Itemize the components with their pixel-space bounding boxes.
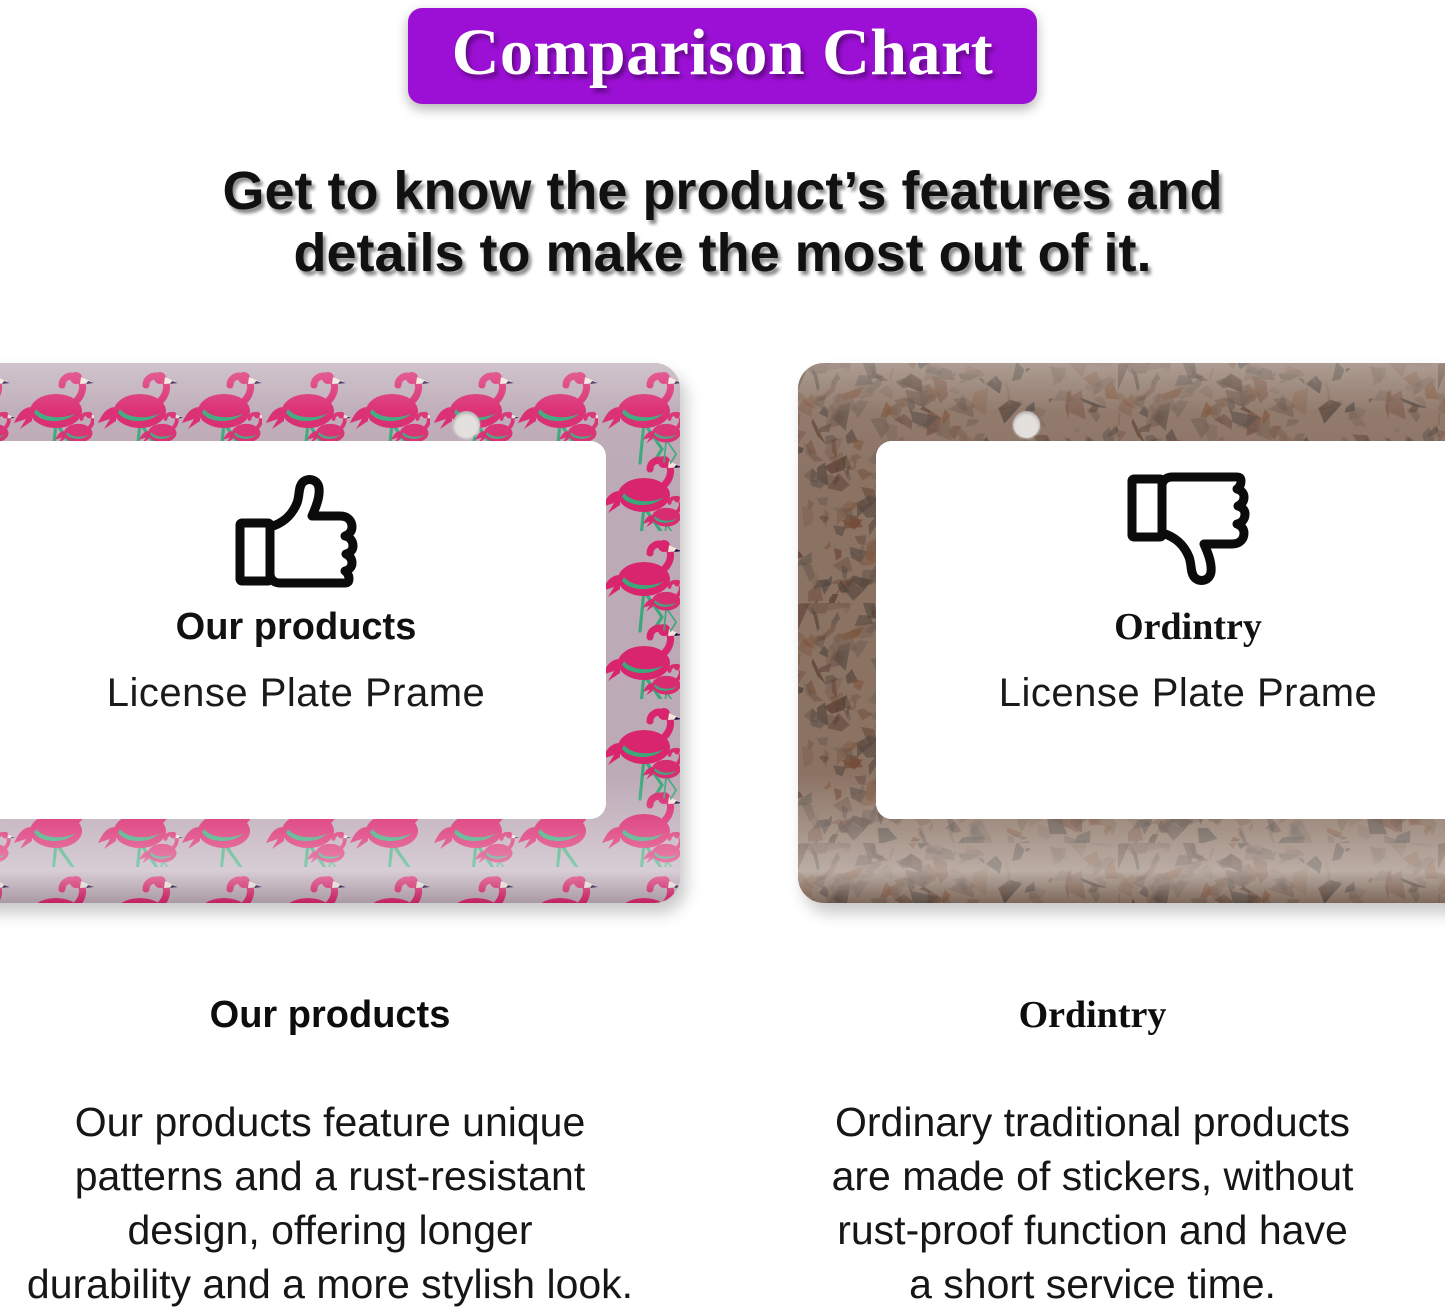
column-heading-right: Ordintry	[760, 995, 1425, 1037]
body-line: a short service time.	[760, 1257, 1425, 1311]
body-line: design, offering longer	[0, 1203, 660, 1257]
thumbs-up-icon	[234, 471, 358, 589]
description-column-left: Our products Our products feature unique…	[0, 995, 660, 1311]
title-banner: Comparison Chart	[408, 8, 1038, 104]
body-line: Our products feature unique	[0, 1095, 660, 1149]
screw-hole	[1013, 411, 1040, 438]
description-column-right: Ordintry Ordinary traditional products a…	[760, 995, 1425, 1311]
column-heading-left: Our products	[0, 995, 660, 1037]
product-frame-ordinary: Ordintry License Plate Prame	[798, 363, 1445, 903]
column-body-right: Ordinary traditional products are made o…	[760, 1095, 1425, 1311]
frame-content-right: Ordintry License Plate Prame	[876, 471, 1445, 715]
product-frame-ours: Our products License Plate Prame	[0, 363, 680, 903]
frame-content-left: Our products License Plate Prame	[0, 471, 606, 715]
column-body-left: Our products feature unique patterns and…	[0, 1095, 660, 1311]
title-banner-container: Comparison Chart	[0, 8, 1445, 104]
body-line: Ordinary traditional products	[760, 1095, 1425, 1149]
subtitle-line-2: details to make the most out of it.	[90, 222, 1355, 284]
subtitle-line-1: Get to know the product’s features and	[90, 160, 1355, 222]
page-title: Comparison Chart	[452, 16, 994, 90]
inframe-heading-left: Our products	[0, 607, 606, 649]
page-subtitle: Get to know the product’s features and d…	[90, 160, 1355, 284]
comparison-chart-page: Comparison Chart Get to know the product…	[0, 0, 1445, 1314]
thumbs-down-icon	[1126, 471, 1250, 589]
body-line: durability and a more stylish look.	[0, 1257, 660, 1311]
inframe-heading-right: Ordintry	[876, 607, 1445, 649]
body-line: are made of stickers, without	[760, 1149, 1425, 1203]
inframe-subtitle-right: License Plate Prame	[876, 671, 1445, 715]
body-line: rust-proof function and have	[760, 1203, 1425, 1257]
screw-hole	[453, 411, 480, 438]
inframe-subtitle-left: License Plate Prame	[0, 671, 606, 715]
body-line: patterns and a rust-resistant	[0, 1149, 660, 1203]
